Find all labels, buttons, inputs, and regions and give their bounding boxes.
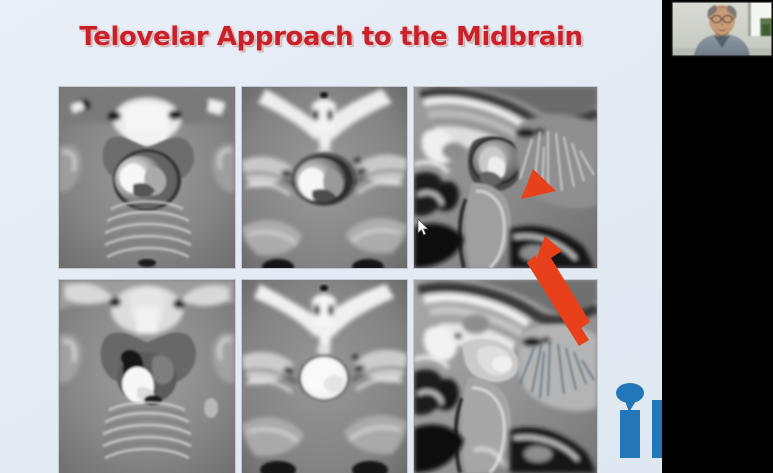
- mri-image-grid: [59, 87, 597, 473]
- cursor-arrow-icon: [417, 219, 429, 237]
- sagittal-postop-image: [414, 280, 597, 473]
- mri-panel-coronal-preop[interactable]: [242, 87, 407, 268]
- mri-panel-axial-postop[interactable]: [59, 280, 235, 473]
- mri-panel-axial-preop[interactable]: [59, 87, 235, 268]
- presentation-slide[interactable]: Telovelar Approach to the Midbrain: [0, 0, 662, 473]
- inc-logo-mark: [609, 382, 662, 458]
- axial-postop-image: [59, 280, 235, 473]
- right-black-pane: [662, 0, 773, 473]
- coronal-postop-image: [242, 280, 407, 473]
- sagittal-preop-image: [414, 87, 597, 268]
- inc-logo: [609, 382, 662, 458]
- axial-preop-image: [59, 87, 235, 268]
- screen-capture: Telovelar Approach to the Midbrain: [0, 0, 773, 473]
- mri-panel-coronal-postop[interactable]: [242, 280, 407, 473]
- coronal-preop-image: [242, 87, 407, 268]
- slide-title: Telovelar Approach to the Midbrain: [0, 22, 662, 52]
- mri-panel-sagittal-preop[interactable]: [414, 87, 597, 268]
- mouse-cursor: [417, 219, 429, 237]
- mri-panel-sagittal-postop[interactable]: [414, 280, 597, 473]
- webcam-video-tile[interactable]: [671, 1, 773, 57]
- webcam-video-frame: [672, 2, 772, 56]
